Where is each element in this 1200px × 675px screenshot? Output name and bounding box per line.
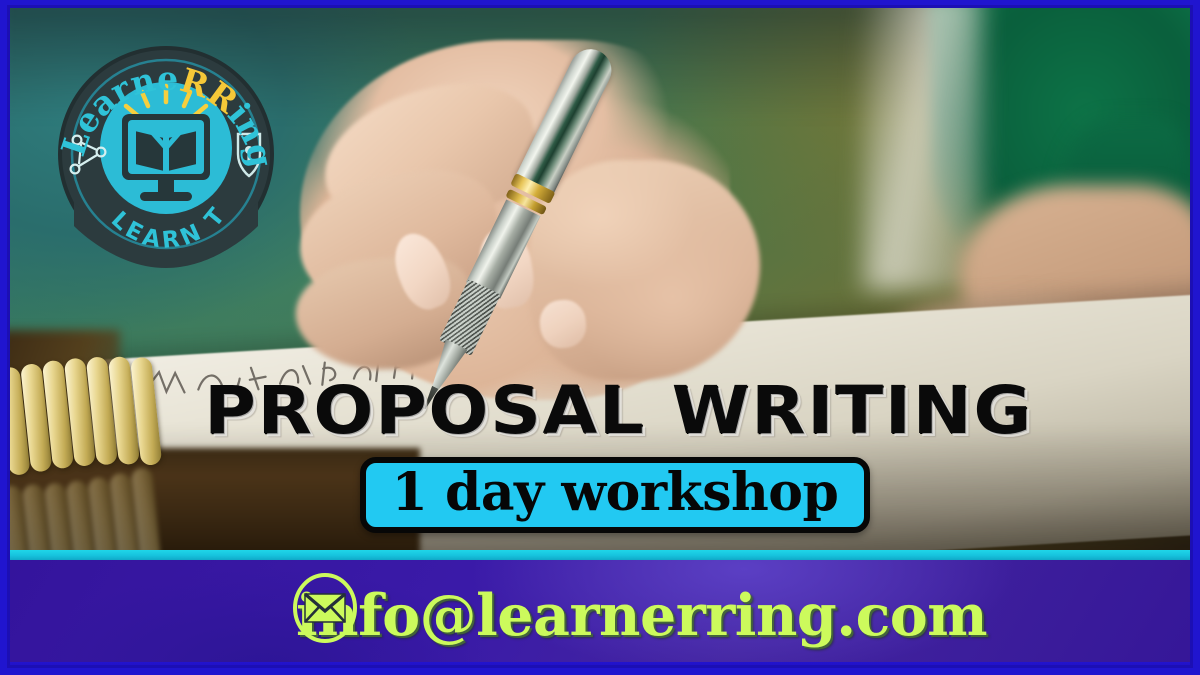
contact-email[interactable]: info@learnerring.com [296,587,987,644]
promo-banner: LearneRRing LEARN TO LEAD PROPOSAL WRITI… [0,0,1200,675]
envelope-icon[interactable] [292,572,358,644]
page-title: PROPOSAL WRITING [167,378,1032,444]
learnerring-logo[interactable]: LearneRRing LEARN TO LEAD [48,36,284,272]
workshop-badge: 1 day workshop [360,457,871,533]
subtitle-badge-wrap: 1 day workshop [0,457,1200,533]
cyan-divider [0,550,1200,560]
background-highlight-streak [862,0,982,290]
workshop-badge-label: 1 day workshop [392,462,839,523]
contact-footer-bar: info@learnerring.com [0,560,1200,675]
headline-block: PROPOSAL WRITING [0,378,1200,444]
